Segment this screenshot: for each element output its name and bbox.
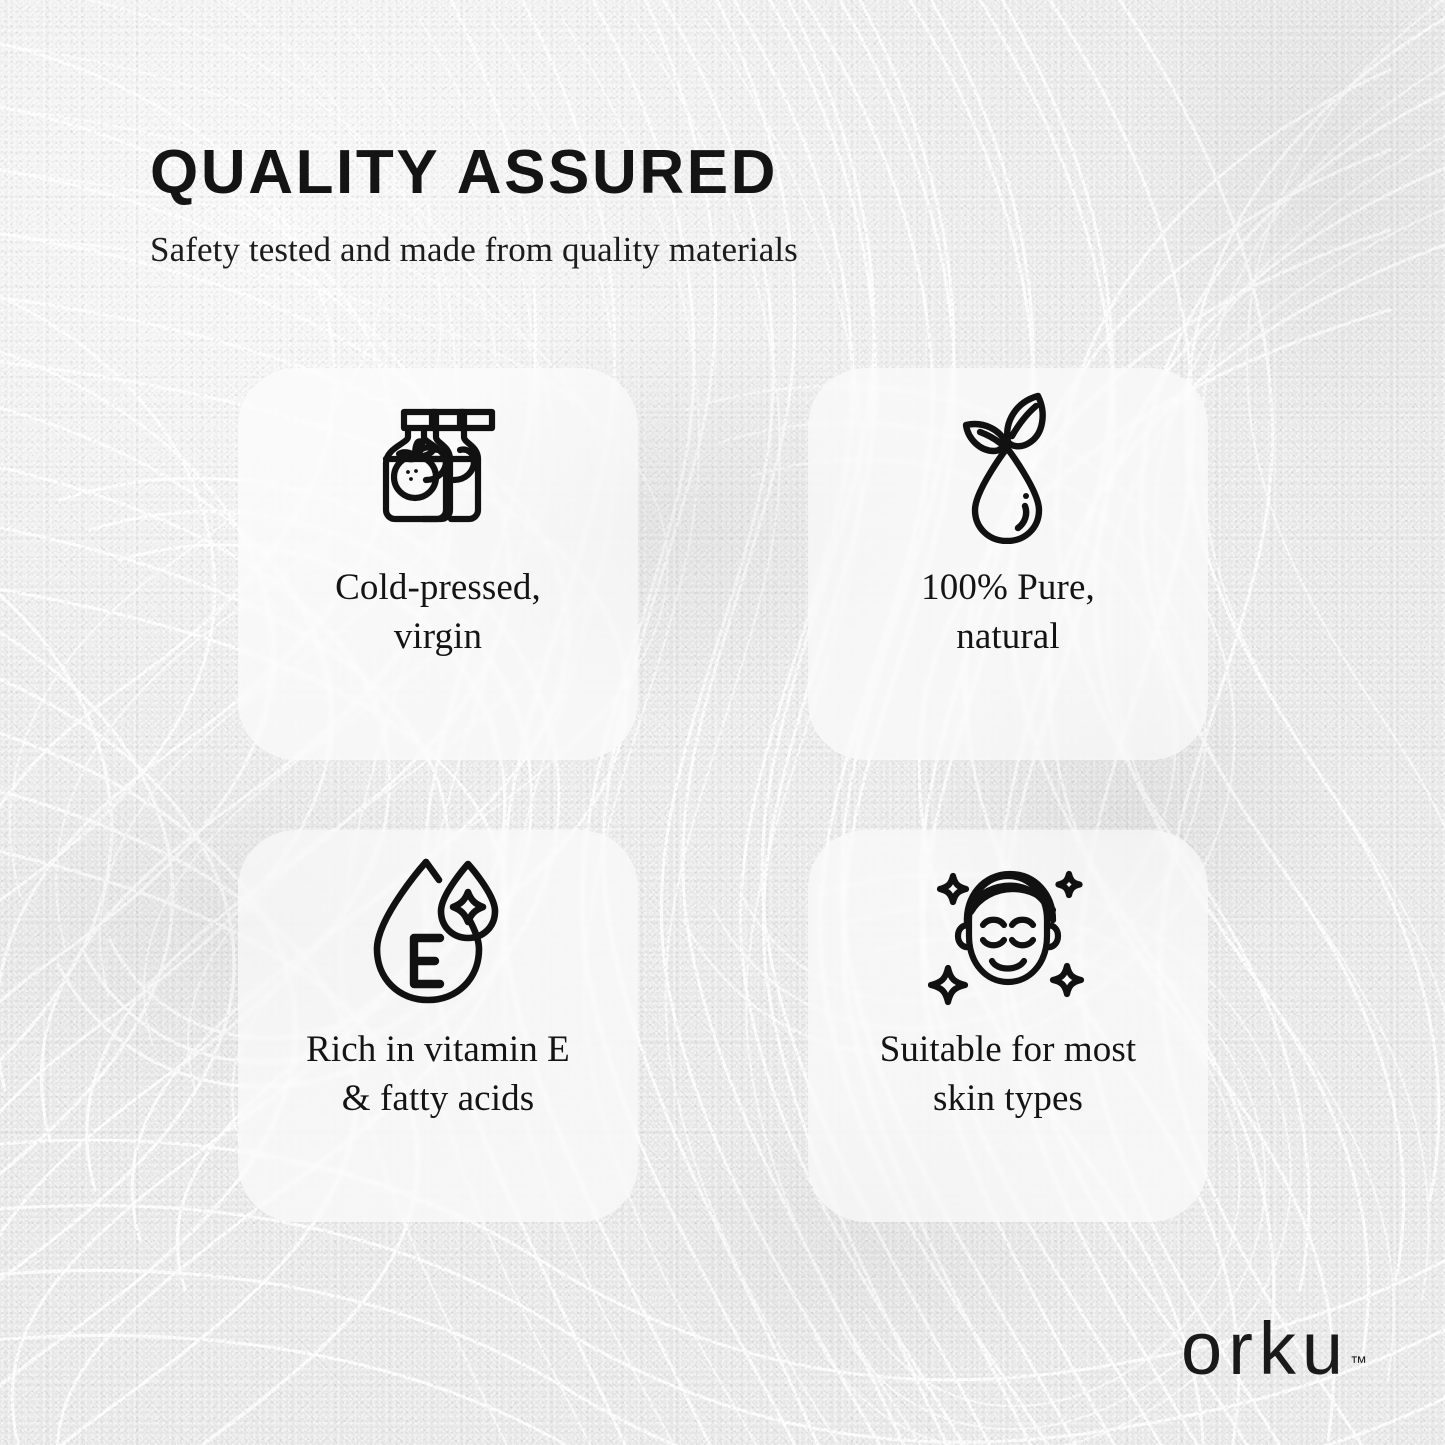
feature-card-skin-types: Suitable for most skin types [808, 830, 1208, 1222]
header-block: QUALITY ASSURED Safety tested and made f… [150, 142, 798, 270]
feature-label: 100% Pure, natural [905, 564, 1111, 662]
promo-graphic: QUALITY ASSURED Safety tested and made f… [0, 0, 1445, 1445]
vitamin-e-droplet-icon [238, 830, 638, 1026]
feature-label: Rich in vitamin E & fatty acids [290, 1026, 586, 1124]
feature-card-vitamin-e: Rich in vitamin E & fatty acids [238, 830, 638, 1222]
feature-card-cold-pressed: Cold-pressed, virgin [238, 368, 638, 760]
feature-label: Suitable for most skin types [864, 1026, 1153, 1124]
brand-logo: orku ™ [1181, 1315, 1367, 1383]
leaf-droplet-icon [808, 368, 1208, 564]
page-subtitle: Safety tested and made from quality mate… [150, 204, 798, 270]
trademark-symbol: ™ [1350, 1353, 1367, 1383]
sparkling-face-icon [808, 830, 1208, 1026]
feature-card-pure-natural: 100% Pure, natural [808, 368, 1208, 760]
feature-label: Cold-pressed, virgin [319, 564, 557, 662]
brand-wordmark: orku [1181, 1315, 1349, 1383]
jars-of-preserve-icon [238, 368, 638, 564]
page-title: QUALITY ASSURED [150, 142, 798, 204]
